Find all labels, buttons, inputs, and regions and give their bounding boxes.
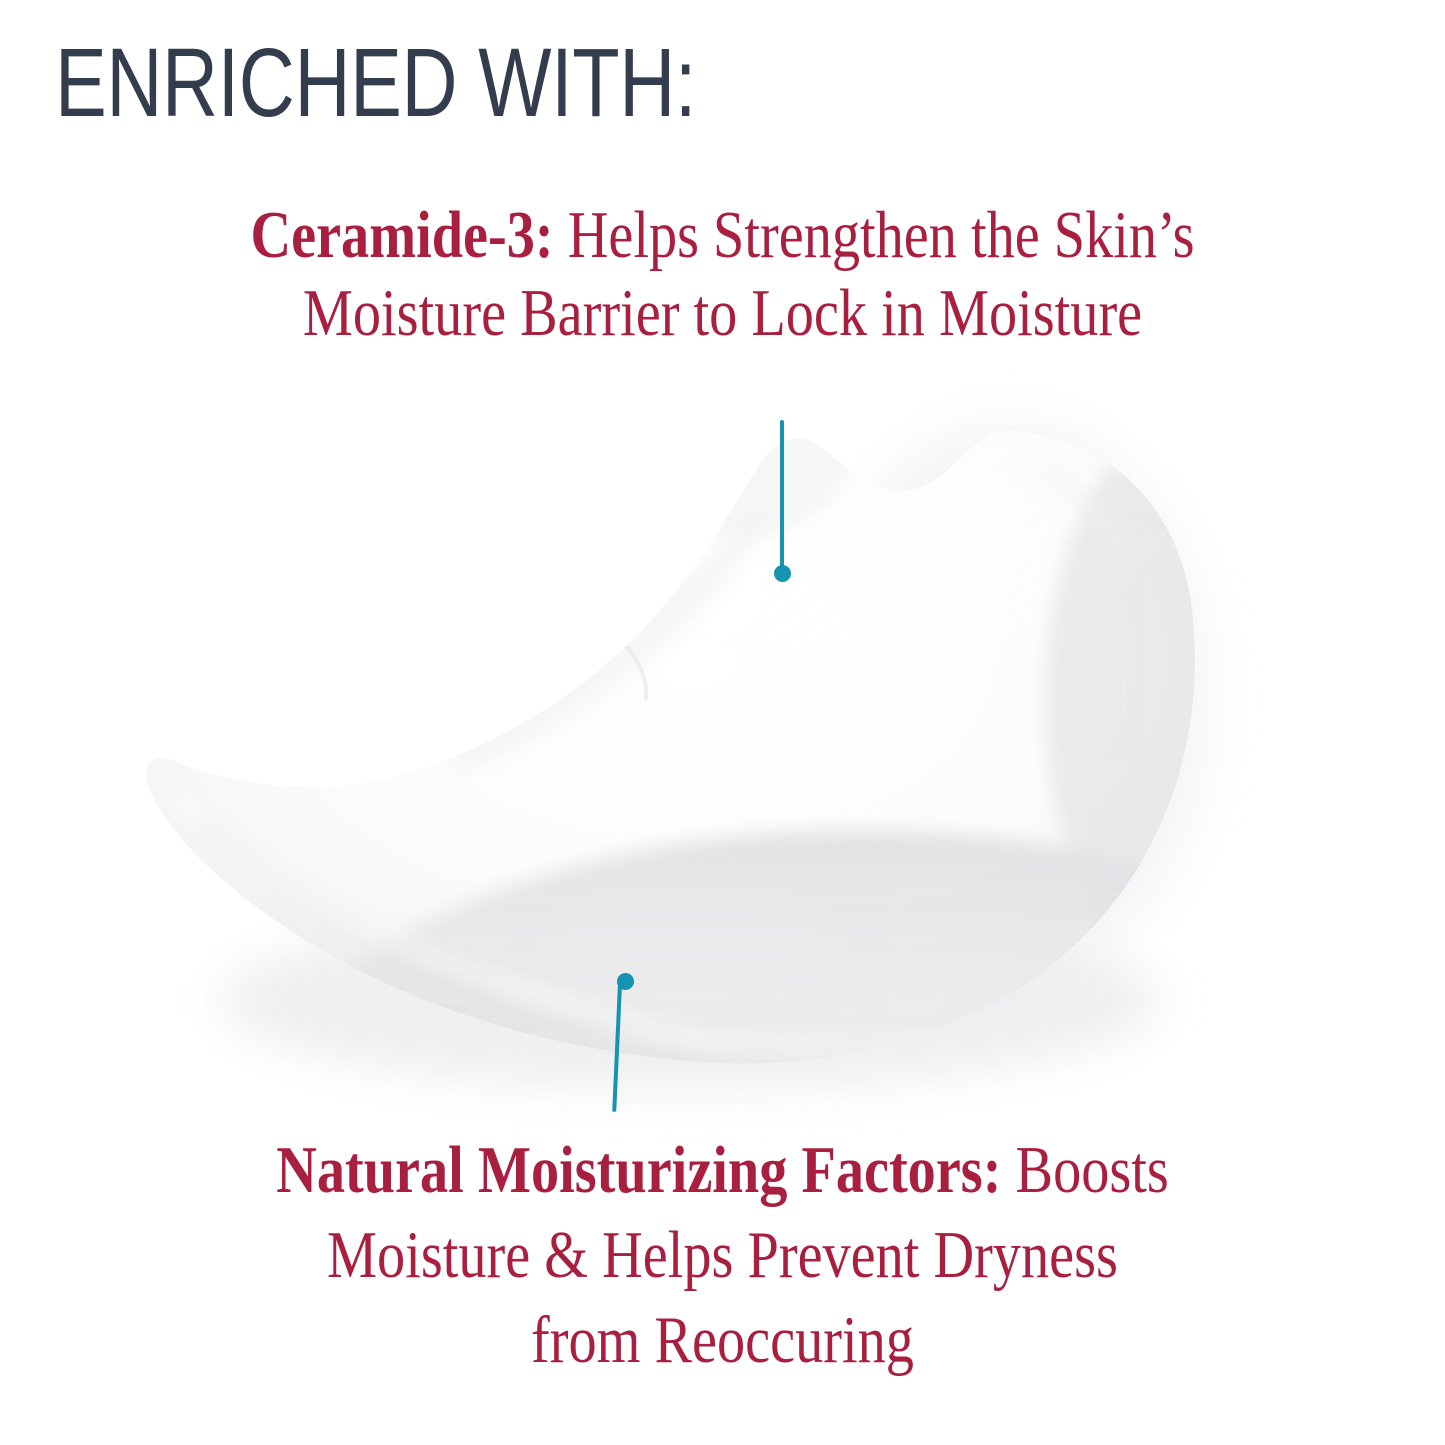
product-benefits-graphic: ENRICHED WITH: Ceramide-3: Helps Strengt… [0,0,1445,1445]
pointer-line [612,984,622,1112]
pointer-dot-icon [617,973,634,990]
natural-moisturizing-factors-pointer [0,0,1445,1445]
